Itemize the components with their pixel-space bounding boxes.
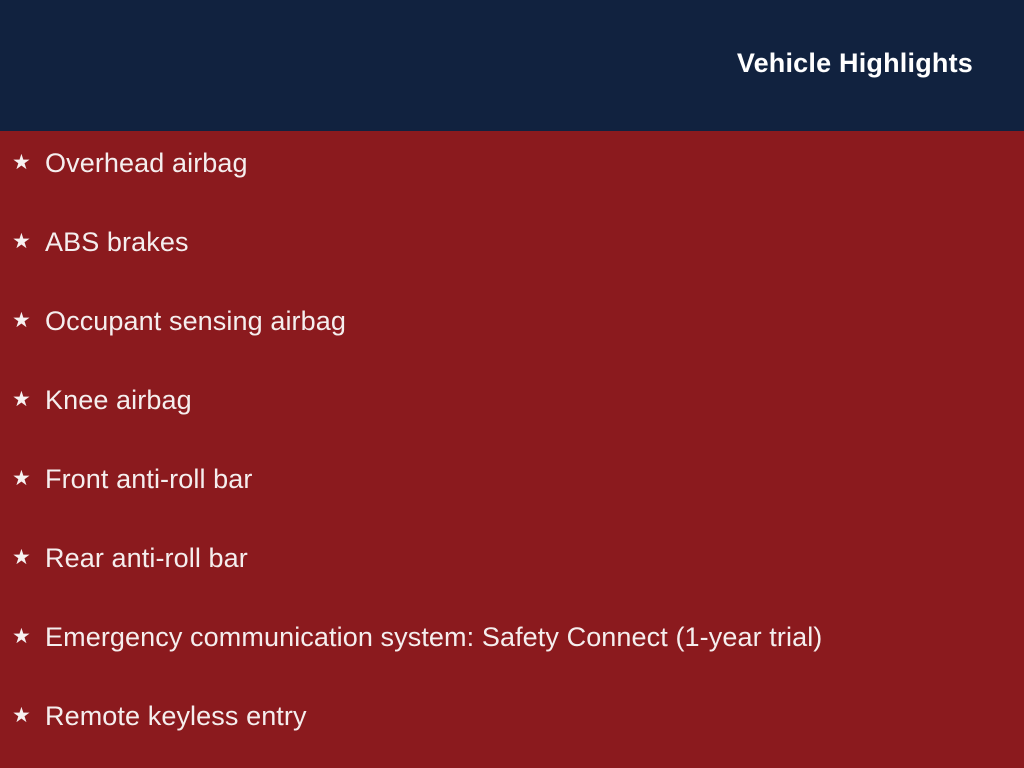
page-title: Vehicle Highlights bbox=[737, 50, 973, 77]
list-item-label: Emergency communication system: Safety C… bbox=[45, 624, 822, 651]
list-item-label: Overhead airbag bbox=[45, 150, 248, 177]
slide-header-bar: Vehicle Highlights bbox=[0, 0, 1024, 131]
list-item-label: Front anti-roll bar bbox=[45, 466, 252, 493]
star-icon: ★ bbox=[12, 310, 45, 331]
star-icon: ★ bbox=[12, 389, 45, 410]
list-item-label: ABS brakes bbox=[45, 229, 189, 256]
star-icon: ★ bbox=[12, 231, 45, 252]
list-item: ★ Overhead airbag bbox=[0, 150, 1024, 229]
list-item-label: Occupant sensing airbag bbox=[45, 308, 346, 335]
star-icon: ★ bbox=[12, 705, 45, 726]
vehicle-highlights-slide: Vehicle Highlights ★ Overhead airbag ★ A… bbox=[0, 0, 1024, 768]
vehicle-highlights-list: ★ Overhead airbag ★ ABS brakes ★ Occupan… bbox=[0, 150, 1024, 768]
list-item: ★ Front anti-roll bar bbox=[0, 466, 1024, 545]
star-icon: ★ bbox=[12, 626, 45, 647]
list-item-label: Remote keyless entry bbox=[45, 703, 307, 730]
slide-body: ★ Overhead airbag ★ ABS brakes ★ Occupan… bbox=[0, 131, 1024, 768]
star-icon: ★ bbox=[12, 468, 45, 489]
list-item-label: Rear anti-roll bar bbox=[45, 545, 248, 572]
list-item: ★ Emergency communication system: Safety… bbox=[0, 624, 1024, 703]
list-item: ★ Rear anti-roll bar bbox=[0, 545, 1024, 624]
list-item: ★ Occupant sensing airbag bbox=[0, 308, 1024, 387]
list-item: ★ Knee airbag bbox=[0, 387, 1024, 466]
list-item: ★ Remote keyless entry bbox=[0, 703, 1024, 768]
list-item: ★ ABS brakes bbox=[0, 229, 1024, 308]
star-icon: ★ bbox=[12, 547, 45, 568]
list-item-label: Knee airbag bbox=[45, 387, 192, 414]
star-icon: ★ bbox=[12, 152, 45, 173]
